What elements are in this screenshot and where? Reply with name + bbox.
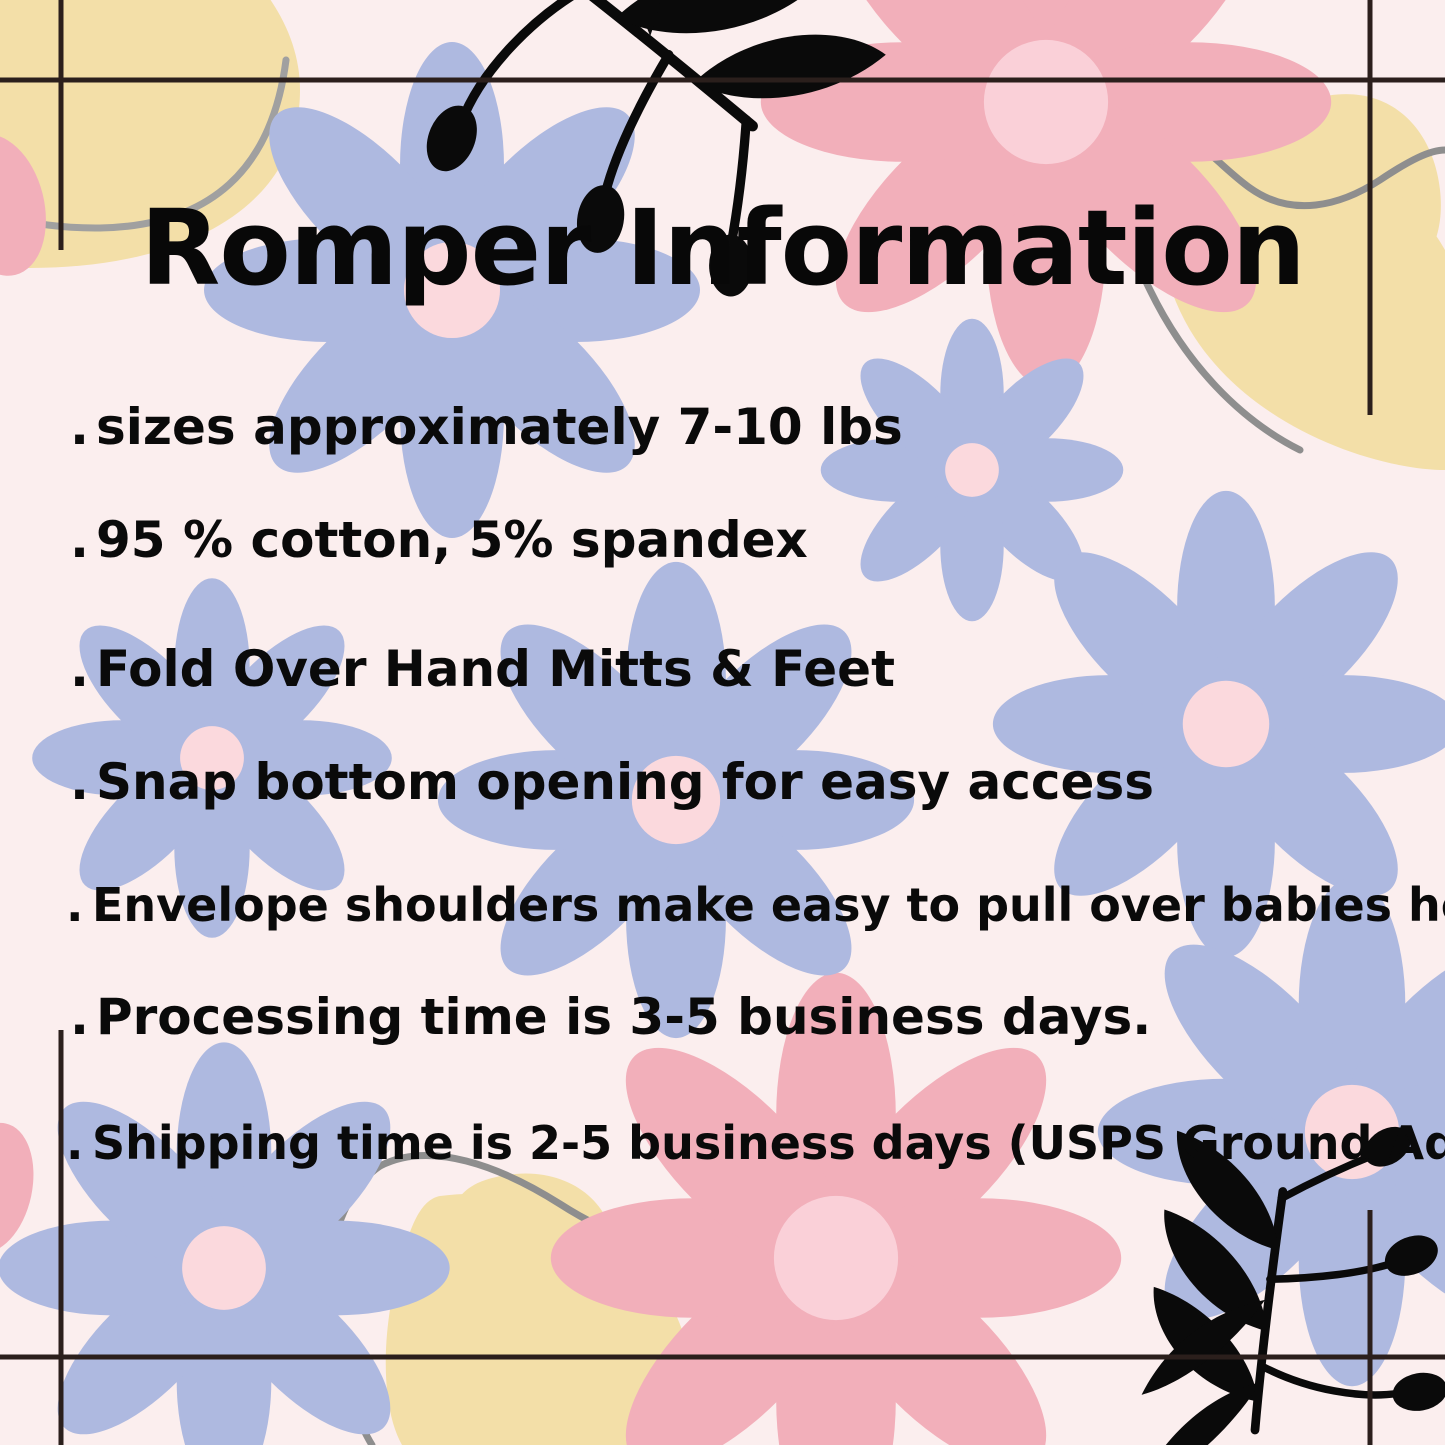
list-item-label: Envelope shoulders make easy to pull ove… (92, 878, 1445, 932)
list-item: .95 % cotton, 5% spandex (70, 511, 808, 569)
bullet-marker: . (70, 640, 96, 698)
list-item-label: sizes approximately 7-10 lbs (96, 398, 903, 456)
page-title: Romper Information (0, 196, 1445, 300)
list-item: .Envelope shoulders make easy to pull ov… (66, 878, 1445, 932)
list-item-label: 95 % cotton, 5% spandex (96, 511, 808, 569)
bullet-marker: . (70, 988, 96, 1046)
bullet-marker: . (70, 511, 96, 569)
list-item-label: Processing time is 3-5 business days. (96, 988, 1151, 1046)
bullet-marker: . (66, 878, 92, 932)
bullet-marker: . (70, 398, 96, 456)
list-item-label: Snap bottom opening for easy access (96, 753, 1154, 811)
list-item: .sizes approximately 7-10 lbs (70, 398, 903, 456)
list-item-label: Shipping time is 2-5 business days (USPS… (92, 1116, 1445, 1170)
poster-canvas: Romper Information .sizes approximately … (0, 0, 1445, 1445)
list-item: .Processing time is 3-5 business days. (70, 988, 1151, 1046)
bullet-marker: . (70, 753, 96, 811)
list-item-label: Fold Over Hand Mitts & Feet (96, 640, 895, 698)
list-item: .Shipping time is 2-5 business days (USP… (66, 1116, 1445, 1170)
list-item: .Fold Over Hand Mitts & Feet (70, 640, 895, 698)
bullet-marker: . (66, 1116, 92, 1170)
list-item: .Snap bottom opening for easy access (70, 753, 1154, 811)
